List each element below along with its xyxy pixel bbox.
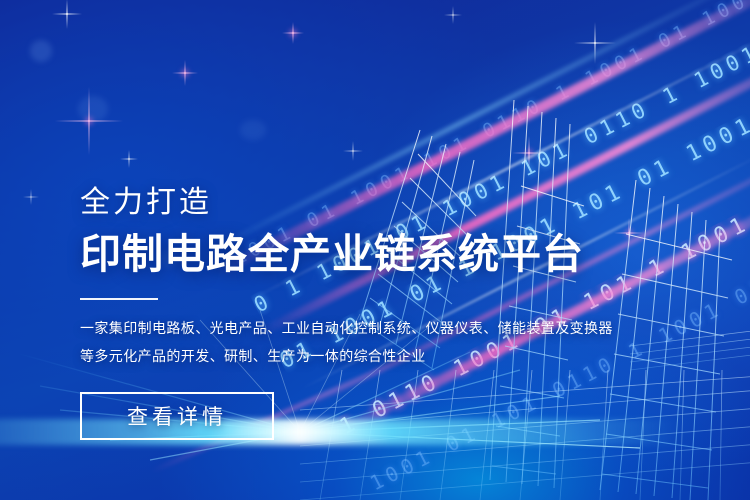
- sparkle-star: [452, 14, 454, 16]
- description-text: 一家集印制电路板、光电产品、工业自动化控制系统、仪器仪表、储能装置及变换器 等多…: [80, 314, 680, 370]
- sparkle-star: [594, 42, 596, 44]
- dust-mote: [240, 120, 266, 140]
- dust-mote: [30, 40, 52, 62]
- eyebrow-text: 全力打造: [80, 188, 680, 218]
- hero-content: 全力打造 印制电路全产业链系统平台 一家集印制电路板、光电产品、工业自动化控制系…: [80, 188, 680, 440]
- sparkle-star: [184, 72, 186, 74]
- sparkle-star: [30, 196, 32, 198]
- page-title: 印制电路全产业链系统平台: [80, 232, 680, 276]
- sparkle-star: [128, 158, 130, 160]
- view-details-button[interactable]: 查看详情: [80, 392, 274, 440]
- sparkle-star: [66, 13, 68, 15]
- dust-mote: [78, 96, 108, 122]
- hero-banner: 1001 01 1001 101 0110 1 1001 01 100 1 10…: [0, 0, 750, 500]
- description-line-2: 等多元化产品的开发、研制、生产为一体的综合性企业: [80, 342, 680, 370]
- title-divider: [80, 298, 158, 300]
- sparkle-star: [88, 120, 90, 122]
- sparkle-star: [292, 32, 294, 34]
- description-line-1: 一家集印制电路板、光电产品、工业自动化控制系统、仪器仪表、储能装置及变换器: [80, 314, 680, 342]
